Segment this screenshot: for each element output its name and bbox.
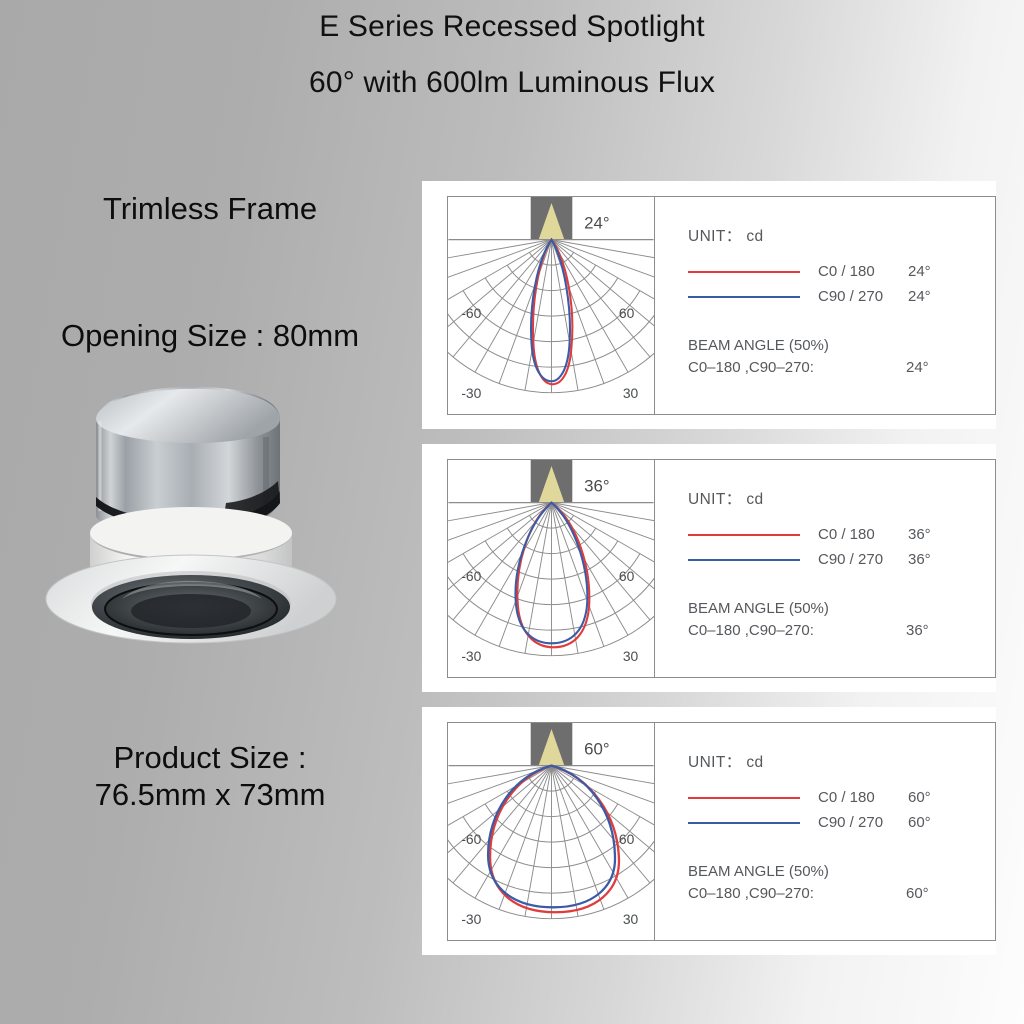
- legend-swatch-c0-180: [688, 797, 800, 799]
- beam-angle-value: 36°: [906, 622, 929, 639]
- legend-value-c90-270: 60°: [908, 814, 931, 831]
- beam-angle-key: C0–180 ,C90–270:: [688, 359, 906, 376]
- legend: UNIT： cd C0 / 180 60° C90 / 270 60°: [655, 723, 995, 940]
- legend-label-c90-270: C90 / 270: [800, 551, 908, 568]
- legend-value-c0-180: 36°: [908, 526, 931, 543]
- tick-minus-60: -60: [461, 831, 481, 847]
- spotlight-illustration: [30, 385, 370, 675]
- legend-row: C90 / 270 36°: [688, 547, 995, 572]
- beam-angle-key: C0–180 ,C90–270:: [688, 622, 906, 639]
- tick-plus-30: 30: [623, 648, 639, 664]
- spec-column: Trimless Frame Opening Size : 80mm Produ…: [0, 0, 420, 1024]
- legend-label-c0-180: C0 / 180: [800, 789, 908, 806]
- legend-value-c0-180: 24°: [908, 263, 931, 280]
- lamp-icon: [531, 197, 573, 240]
- tick-plus-60: 60: [619, 831, 635, 847]
- legend-value-c90-270: 24°: [908, 288, 931, 305]
- product-size-label: Product Size : 76.5mm x 73mm: [0, 740, 420, 813]
- unit-label: UNIT： cd: [688, 224, 995, 246]
- tick-plus-30: 30: [623, 385, 639, 401]
- tick-plus-60: 60: [619, 568, 635, 584]
- legend-swatch-c90-270: [688, 822, 800, 824]
- legend-row: C90 / 270 60°: [688, 810, 995, 835]
- legend: UNIT： cd C0 / 180 36° C90 / 270 36°: [655, 460, 995, 677]
- photometric-panel: 24°: [422, 181, 996, 429]
- polar-diagram-svg: 24°: [448, 197, 654, 414]
- beam-angle-row: C0–180 ,C90–270: 24°: [688, 359, 995, 376]
- unit-label: UNIT： cd: [688, 487, 995, 509]
- beam-angle-row: C0–180 ,C90–270: 36°: [688, 622, 995, 639]
- tick-minus-30: -30: [461, 385, 481, 401]
- reflector-cone: [92, 575, 290, 639]
- legend: UNIT： cd C0 / 180 24° C90 / 270 24°: [655, 197, 995, 414]
- tick-minus-60: -60: [461, 568, 481, 584]
- polar-diagram-svg: 60°: [448, 723, 654, 940]
- beam-angle-title: 24°: [584, 214, 609, 233]
- legend-value-c90-270: 36°: [908, 551, 931, 568]
- lamp-icon: [531, 723, 573, 766]
- beam-angle-heading: BEAM ANGLE (50%): [688, 863, 995, 880]
- legend-swatch-c90-270: [688, 296, 800, 298]
- polar-plot: 36°: [448, 460, 655, 677]
- product-photo: [30, 385, 370, 675]
- lamp-icon: [531, 460, 573, 503]
- polar-plot: 60°: [448, 723, 655, 940]
- polar-diagram-svg: 36°: [448, 460, 654, 677]
- photometric-panel: 36°: [422, 444, 996, 692]
- product-spec-page: E Series Recessed Spotlight 60° with 600…: [0, 0, 1024, 1024]
- polar-plot: 24°: [448, 197, 655, 414]
- product-size-line-1: Product Size :: [0, 740, 420, 777]
- curve-c0-180: [517, 503, 589, 648]
- legend-label-c0-180: C0 / 180: [800, 263, 908, 280]
- photometric-panel: 60°: [422, 707, 996, 955]
- beam-angle-value: 24°: [906, 359, 929, 376]
- beam-angle-title: 36°: [584, 477, 609, 496]
- legend-swatch-c0-180: [688, 271, 800, 273]
- tick-minus-60: -60: [461, 305, 481, 321]
- opening-size-label: Opening Size : 80mm: [0, 318, 420, 355]
- legend-value-c0-180: 60°: [908, 789, 931, 806]
- beam-angle-value: 60°: [906, 885, 929, 902]
- legend-row: C90 / 270 24°: [688, 284, 995, 309]
- beam-angle-row: C0–180 ,C90–270: 60°: [688, 885, 995, 902]
- beam-angle-title: 60°: [584, 740, 609, 759]
- legend-label-c0-180: C0 / 180: [800, 526, 908, 543]
- legend-label-c90-270: C90 / 270: [800, 814, 908, 831]
- tick-minus-30: -30: [461, 648, 481, 664]
- legend-row: C0 / 180 60°: [688, 785, 995, 810]
- tick-minus-30: -30: [461, 911, 481, 927]
- beam-angle-key: C0–180 ,C90–270:: [688, 885, 906, 902]
- tick-plus-60: 60: [619, 305, 635, 321]
- photometric-panels: 24°: [422, 181, 996, 970]
- legend-label-c90-270: C90 / 270: [800, 288, 908, 305]
- trimless-frame-label: Trimless Frame: [0, 191, 420, 228]
- beam-angle-heading: BEAM ANGLE (50%): [688, 337, 995, 354]
- product-size-line-2: 76.5mm x 73mm: [0, 777, 420, 814]
- tick-plus-30: 30: [623, 911, 639, 927]
- legend-row: C0 / 180 24°: [688, 259, 995, 284]
- beam-angle-heading: BEAM ANGLE (50%): [688, 600, 995, 617]
- unit-label: UNIT： cd: [688, 750, 995, 772]
- legend-swatch-c0-180: [688, 534, 800, 536]
- legend-swatch-c90-270: [688, 559, 800, 561]
- legend-row: C0 / 180 36°: [688, 522, 995, 547]
